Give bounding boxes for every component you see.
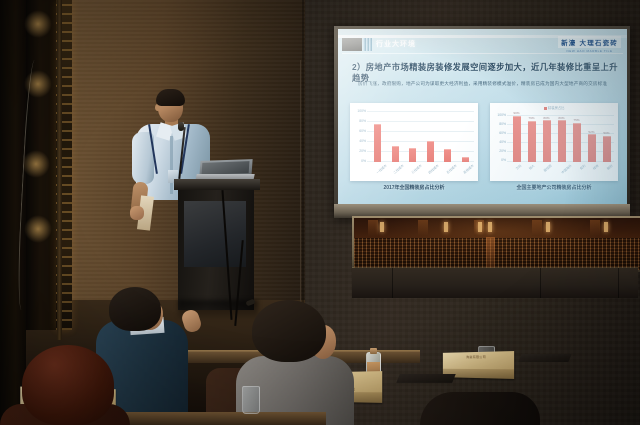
- bar-item: 80%: [543, 111, 551, 162]
- podium-front-panel: [184, 201, 246, 267]
- x-tick-label: 保利: [578, 163, 592, 178]
- artwork-seat-rows: [354, 238, 640, 270]
- artwork-light: [478, 222, 482, 232]
- laptop-screen: [202, 161, 250, 175]
- bar: [392, 146, 399, 162]
- artwork-light: [380, 222, 384, 232]
- cabinet-seam: [540, 268, 541, 298]
- x-axis-labels-right: 万科恒大碧桂园中国海外保利绿地融创: [509, 163, 614, 178]
- brand-name: 新濠 大理石瓷砖: [558, 36, 621, 48]
- wall-cabinet: [352, 268, 638, 298]
- y-tick: 80%: [352, 119, 366, 123]
- presenter-shirt-placket: [170, 136, 173, 194]
- artwork-wall-panel: [532, 220, 542, 236]
- x-tick-label: 绿地: [592, 163, 606, 178]
- bar: [543, 120, 551, 162]
- bar-value-label: 52%: [588, 130, 594, 134]
- bar: [603, 136, 611, 163]
- bar-chart-right: 精装房占比 100% 80% 60% 40% 20% 0% 90%79%80%8…: [490, 103, 618, 181]
- bar-value-label: 75%: [573, 118, 579, 122]
- presenter-hand: [130, 206, 144, 220]
- bar-item: [427, 111, 434, 162]
- artwork-light: [488, 222, 492, 232]
- brand-logo: 新濠 大理石瓷砖 NEW HAO MARBLE TILE: [558, 36, 621, 53]
- audience-member-shoulder: [420, 392, 540, 425]
- y-tick: 0%: [492, 158, 506, 162]
- wall-cable: [300, 60, 301, 340]
- wall-artwork-auditorium: [354, 218, 640, 270]
- x-tick-label: 融创: [605, 163, 619, 178]
- chart-caption-right: 全国主要地产公司精装房占比分析: [490, 184, 618, 191]
- bar-item: [462, 111, 469, 162]
- x-tick-label: 碧桂园: [542, 163, 559, 180]
- slide-header-underline: [342, 53, 623, 54]
- x-tick-label: 五线城市: [444, 163, 463, 182]
- bar: [374, 124, 381, 162]
- bar: [528, 121, 536, 162]
- niche-glow-1: [24, 10, 52, 38]
- chart-card-right: 精装房占比 100% 80% 60% 40% 20% 0% 90%79%80%8…: [490, 103, 618, 181]
- y-tick: 0%: [352, 159, 366, 163]
- presentation-slide: 行业大环境 新濠 大理石瓷砖 NEW HAO MARBLE TILE 2）房地产…: [338, 29, 627, 212]
- bar-group-right: 90%79%80%80%75%52%50%: [509, 111, 614, 162]
- y-tick: 20%: [492, 149, 506, 153]
- bar-item: 80%: [558, 111, 566, 162]
- legend-label: 精装房占比: [548, 106, 564, 110]
- bar: [573, 123, 581, 162]
- x-tick-label: 一线城市: [374, 163, 393, 182]
- audience-member-head: [252, 300, 326, 362]
- x-tick-label: 恒大: [528, 163, 542, 178]
- audience-member-head: [109, 287, 161, 331]
- x-tick-label: 其他城市: [462, 163, 481, 182]
- y-tick: 20%: [352, 149, 366, 153]
- y-tick: 60%: [352, 129, 366, 133]
- y-tick: 100%: [352, 109, 366, 113]
- chart-caption-left: 2017年全国精装房占比分析: [350, 184, 478, 191]
- wall-artwork-frame: [352, 216, 640, 272]
- artwork-light: [444, 222, 448, 232]
- bar: [444, 149, 451, 162]
- y-tick: 80%: [492, 122, 506, 126]
- bottle-cap: [370, 348, 377, 354]
- bar-item: [374, 111, 381, 162]
- bar-value-label: 90%: [513, 111, 519, 115]
- chart-legend-right: 精装房占比: [490, 105, 618, 110]
- bar: [558, 120, 566, 162]
- x-axis-labels-left: 一线城市二线城市三线城市四线城市五线城市其他城市: [369, 163, 474, 178]
- y-tick: 60%: [492, 131, 506, 135]
- bar-item: 79%: [528, 111, 536, 162]
- bar: [409, 148, 416, 162]
- cabinet-seam: [618, 268, 619, 298]
- bar-chart-left: 100% 80% 60% 40% 20% 0% 一线城市二线城市三线城市四线城市…: [350, 103, 478, 181]
- presenter-hair: [156, 89, 185, 106]
- name-card-org: 陶瓷有限公司: [443, 354, 514, 359]
- bar-item: [392, 111, 399, 162]
- bar-item: 50%: [603, 111, 611, 162]
- artwork-wall-panel: [418, 220, 428, 236]
- artwork-wall-panel: [368, 220, 378, 236]
- bar-value-label: 80%: [558, 116, 564, 120]
- x-tick-label: 四线城市: [427, 163, 446, 182]
- artwork-light: [546, 222, 550, 232]
- near-table: [96, 412, 326, 425]
- bar: [513, 116, 521, 163]
- note-pad: [518, 354, 571, 362]
- bar-value-label: 50%: [603, 131, 609, 135]
- legend-swatch: [544, 107, 547, 110]
- cabinet-seam: [392, 268, 393, 298]
- brand-subtitle: NEW HAO MARBLE TILE: [558, 49, 621, 53]
- x-tick-label: 三线城市: [409, 163, 428, 182]
- x-tick-label: 万科: [514, 163, 528, 178]
- x-tick-label: 二线城市: [392, 163, 411, 182]
- y-tick: 40%: [492, 140, 506, 144]
- artwork-center-aisle: [486, 237, 495, 270]
- x-tick-label: 中国海外: [560, 163, 579, 182]
- audience-member-head: [22, 345, 114, 425]
- y-tick: 100%: [492, 113, 506, 117]
- slide-tab-bars-icon: [363, 38, 372, 51]
- vertical-post: [57, 0, 62, 340]
- artwork-wall-panel: [590, 220, 600, 236]
- bar: [427, 141, 434, 162]
- artwork-light: [604, 222, 608, 232]
- bar: [462, 157, 469, 162]
- bar-item: 75%: [573, 111, 581, 162]
- drinking-glass: [242, 386, 260, 414]
- bar-value-label: 79%: [528, 116, 534, 120]
- slide-subtitle: 房价飞涨，政府限购，地产公司为谋取更大经济利益，采用精装修模式溢价，精装房已成为…: [358, 81, 608, 88]
- slide-tab-block: [342, 38, 362, 51]
- bar-item: 52%: [588, 111, 596, 162]
- bar: [588, 134, 596, 162]
- bar-item: [444, 111, 451, 162]
- bar-value-label: 80%: [543, 116, 549, 120]
- microphone-icon: [178, 122, 184, 131]
- bar-item: 90%: [513, 111, 521, 162]
- note-pad: [396, 374, 456, 383]
- y-tick: 40%: [352, 139, 366, 143]
- chart-card-left: 100% 80% 60% 40% 20% 0% 一线城市二线城市三线城市四线城市…: [350, 103, 478, 181]
- bar-item: [409, 111, 416, 162]
- podium-top-surface: [174, 179, 260, 190]
- projection-screen: 行业大环境 新濠 大理石瓷砖 NEW HAO MARBLE TILE 2）房地产…: [338, 29, 627, 212]
- conference-room-photo: 行业大环境 新濠 大理石瓷砖 NEW HAO MARBLE TILE 2）房地产…: [0, 0, 640, 425]
- slide-section-header: 行业大环境: [376, 39, 416, 49]
- bar-group-left: [369, 111, 474, 162]
